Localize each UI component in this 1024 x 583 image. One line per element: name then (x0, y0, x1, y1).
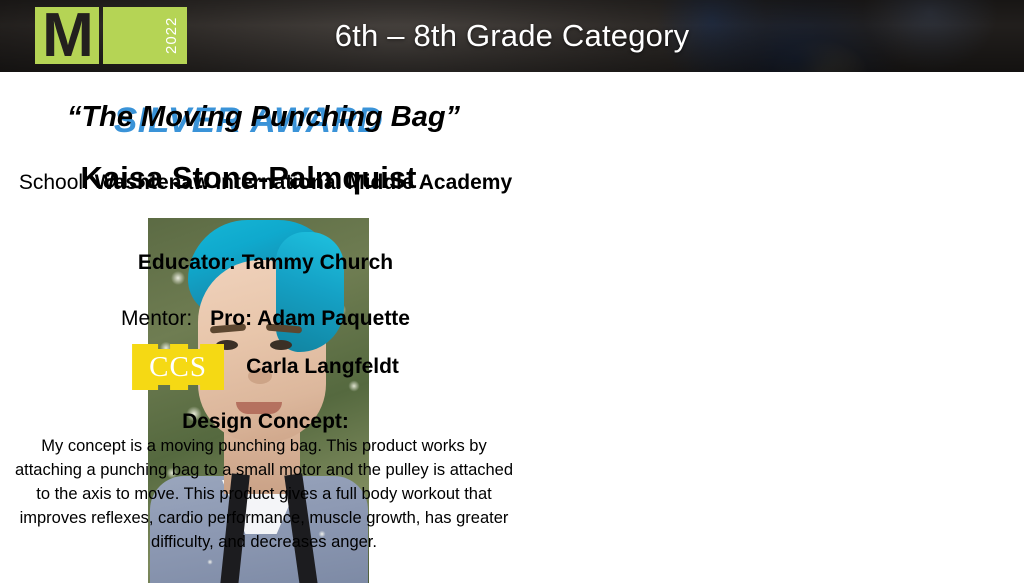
ccs-logo-label: CCS (132, 344, 224, 390)
school-line: School: Washtenaw International Middle A… (18, 168, 513, 197)
m2022-logo: M 2022 (35, 7, 187, 64)
mentor-value: Pro: Adam Paquette (210, 307, 410, 330)
logo-letter-m: M (35, 7, 99, 64)
ccs-logo-icon: CCS (132, 344, 224, 390)
mentor-line: Mentor: Pro: Adam Paquette (18, 307, 513, 331)
header-banner: 6th – 8th Grade Category M 2022 (0, 0, 1024, 72)
logo-m-block: M (35, 7, 99, 64)
logo-green-bar: 2022 (103, 7, 187, 64)
project-title: “The Moving Punching Bag” (0, 101, 527, 134)
educator-line: Educator: Tammy Church (18, 251, 513, 275)
ccs-mentor-name: Carla Langfeldt (246, 355, 399, 379)
portrait-hair-side (276, 232, 344, 352)
ccs-mentor-row: CCS Carla Langfeldt (18, 343, 513, 391)
school-value: Washtenaw International Middle Academy (95, 171, 512, 194)
logo-year-label: 2022 (163, 13, 181, 58)
design-concept-body: My concept is a moving punching bag. Thi… (12, 434, 516, 554)
mentor-label: Mentor: (121, 307, 192, 330)
school-label: School: (19, 171, 89, 194)
design-concept-heading: Design Concept: (18, 410, 513, 434)
